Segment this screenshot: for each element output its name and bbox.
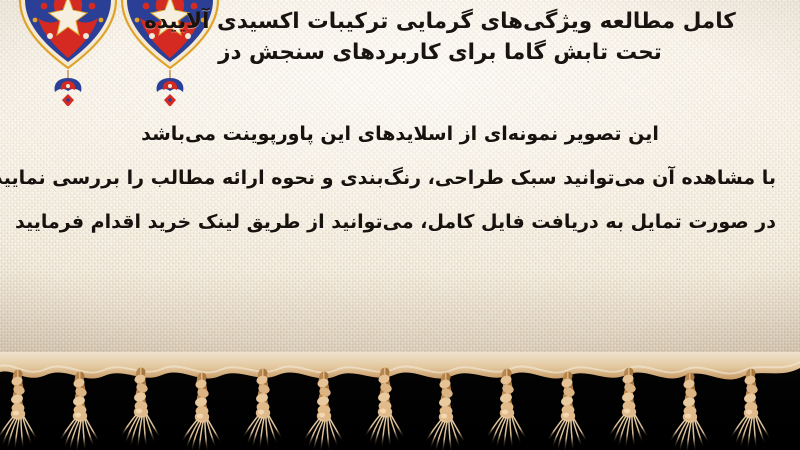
body-line-1: این تصویر نمونه‌ای از اسلایدهای این پاور… — [24, 112, 776, 156]
tassel — [183, 377, 220, 450]
slide-body: این تصویر نمونه‌ای از اسلایدهای این پاور… — [24, 112, 776, 244]
slide-title: کامل مطالعه ویژگی‌های گرمایی ترکیبات اکس… — [110, 6, 770, 68]
tassel — [549, 376, 586, 450]
title-line-1: کامل مطالعه ویژگی‌های گرمایی ترکیبات اکس… — [110, 6, 770, 37]
tassel — [61, 376, 98, 450]
tassel — [671, 377, 708, 450]
presentation-slide: کامل مطالعه ویژگی‌های گرمایی ترکیبات اکس… — [0, 0, 800, 450]
tassel — [732, 373, 769, 447]
carpet-tassel-fringe — [0, 352, 800, 450]
tassel — [366, 372, 403, 446]
tassel — [488, 373, 525, 447]
body-line-3: در صورت تمایل به دریافت فایل کامل، می‌تو… — [24, 200, 776, 244]
title-line-2: تحت تابش گاما برای کاربردهای سنجش دز — [110, 37, 770, 68]
tassel — [122, 372, 159, 446]
carpet-edge — [0, 352, 800, 379]
tassel — [610, 372, 647, 446]
body-line-2: با مشاهده آن می‌توانید سبک طراحی، رنگ‌بن… — [24, 156, 776, 200]
tassel — [305, 376, 342, 450]
tassel — [0, 374, 36, 448]
tassel — [244, 373, 281, 447]
tassel — [427, 377, 464, 450]
carpet-tassel-fringe-svg — [0, 352, 800, 450]
